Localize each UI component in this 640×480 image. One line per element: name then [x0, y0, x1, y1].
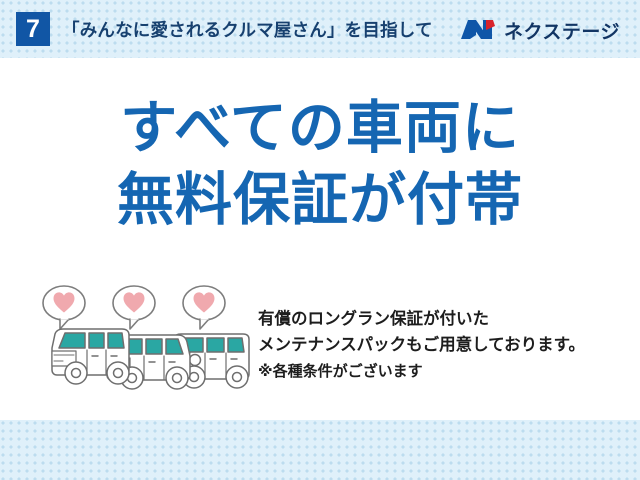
nextage-n-mark-icon — [459, 17, 497, 43]
speech-bubble-heart-3 — [183, 286, 225, 329]
headline-line-2: 無料保証が付帯 — [0, 164, 640, 236]
brand-logo-text: ネクステージ — [504, 17, 620, 44]
section-number-badge: 7 — [16, 12, 50, 46]
brand-logo: ネクステージ — [459, 14, 620, 46]
promotional-slide: 7 「みんなに愛されるクルマ屋さん」を目指して すべての車両に 無料保証が付帯 — [0, 0, 640, 480]
footer-band — [0, 420, 640, 480]
body-copy: 有償のロングラン保証が付いた メンテナンスパックもご用意しております。 ※各種条… — [258, 306, 630, 384]
headline: すべての車両に 無料保証が付帯 — [0, 92, 640, 236]
lower-section: 有償のロングラン保証が付いた メンテナンスパックもご用意しております。 ※各種条… — [0, 282, 640, 412]
speech-bubble-heart-1 — [43, 286, 85, 329]
header-title: 「みんなに愛されるクルマ屋さん」を目指して — [62, 17, 433, 42]
vehicles-illustration — [38, 282, 262, 400]
speech-bubble-heart-2 — [113, 286, 155, 329]
vehicle-kei-van — [52, 329, 129, 384]
vehicles-illustration-svg — [38, 282, 262, 400]
body-copy-note: ※各種条件がございます — [258, 358, 630, 384]
headline-line-1: すべての車両に — [0, 92, 640, 164]
body-copy-line-2: メンテナンスパックもご用意しております。 — [258, 332, 630, 358]
body-copy-line-1: 有償のロングラン保証が付いた — [258, 306, 630, 332]
